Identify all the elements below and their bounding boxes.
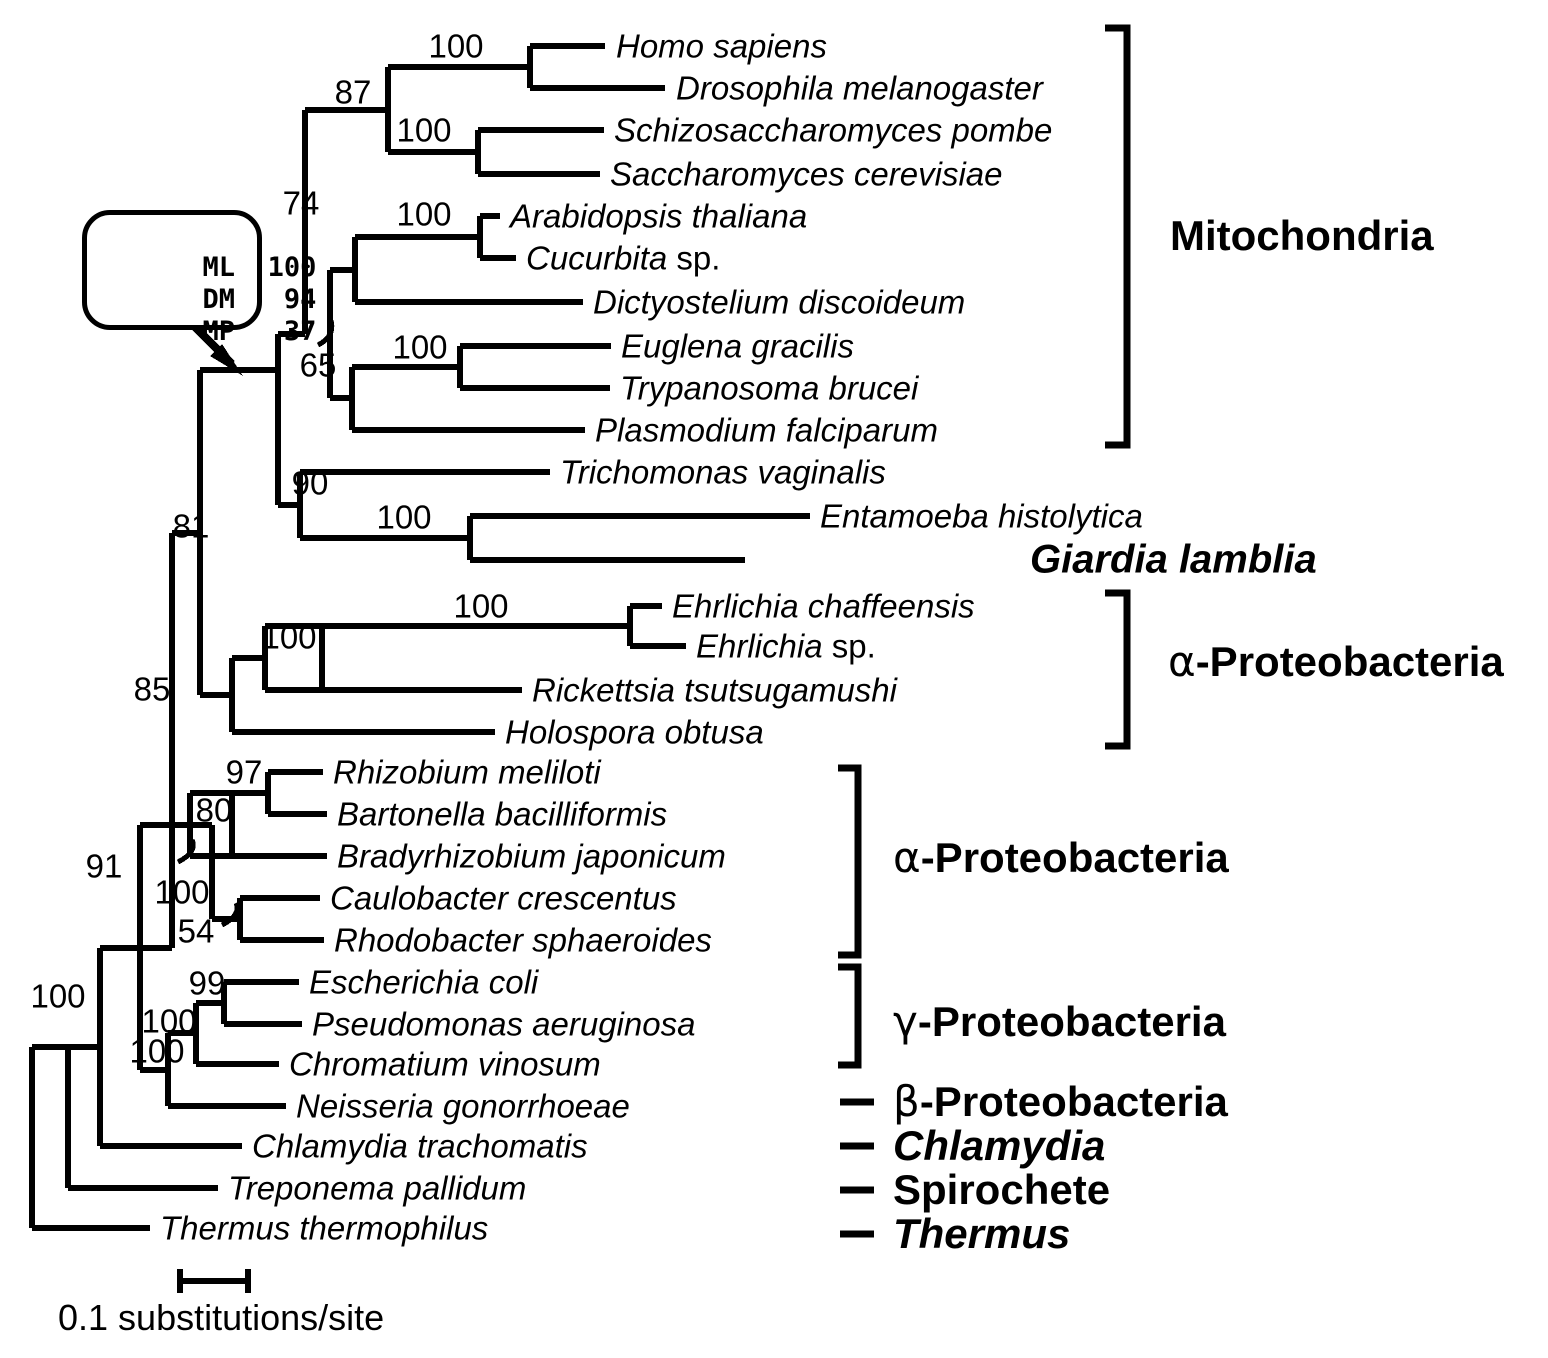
group-label-text: -Proteobacteria <box>920 1078 1228 1125</box>
taxon-name: Thermus thermophilus <box>160 1210 488 1247</box>
taxon-suffix: sp. <box>667 240 720 277</box>
group-label-mitochondria: Mitochondria <box>1170 215 1434 257</box>
legend-row-mp: MP 37 <box>105 291 316 372</box>
taxon-label-entamoeba: Entamoeba histolytica <box>820 500 1143 533</box>
taxon-label-bartonella: Bartonella bacilliformis <box>337 798 667 831</box>
taxon-name: Bradyrhizobium japonicum <box>337 838 726 875</box>
group-label-text: Mitochondria <box>1170 212 1434 259</box>
taxon-name: Treponema pallidum <box>228 1170 526 1207</box>
taxon-label-arabidopsis: Arabidopsis thaliana <box>510 200 807 233</box>
taxon-name: Euglena gracilis <box>621 328 854 365</box>
taxon-label-giardia: Giardia lamblia <box>1030 544 1317 577</box>
taxon-label-trypanosoma: Trypanosoma brucei <box>620 372 918 405</box>
taxon-label-holospora: Holospora obtusa <box>505 716 764 749</box>
taxon-name: Rhizobium meliloti <box>333 754 601 791</box>
group-label-beta-proteo: β-Proteobacteria <box>893 1081 1228 1123</box>
taxon-label-chlamydia: Chlamydia trachomatis <box>252 1130 588 1163</box>
bs-ecoli-pseudo: 99 <box>189 967 226 1000</box>
bs-entamoeba-giardia: 100 <box>376 501 431 534</box>
group-label-text: Thermus <box>893 1210 1070 1257</box>
taxon-label-rickettsia: Rickettsia tsutsugamushi <box>532 674 897 707</box>
bs-caulobacter-rhodo: 54 <box>178 915 215 948</box>
taxon-name: Escherichia coli <box>309 964 538 1001</box>
taxon-name: Plasmodium falciparum <box>595 412 938 449</box>
taxon-name: Pseudomonas aeruginosa <box>312 1006 695 1043</box>
group-label-chlamydia-group: Chlamydia <box>893 1125 1105 1167</box>
bs-alpha-mito: 85 <box>134 673 171 706</box>
support-legend-box: ML 100 DM 94 MP 37 <box>82 210 262 330</box>
taxon-name: Arabidopsis thaliana <box>510 198 807 235</box>
greek-letter-alpha-proteo-1: α <box>1168 637 1196 686</box>
group-label-alpha-proteo-1: α-Proteobacteria <box>1168 641 1504 683</box>
group-label-text: -Proteobacteria <box>918 998 1226 1045</box>
group-label-text: -Proteobacteria <box>1196 638 1504 685</box>
taxon-name: Dictyostelium discoideum <box>593 284 965 321</box>
phylogenetic-tree-figure: ML 100 DM 94 MP 37 Homo sapiensDrosophil… <box>0 0 1548 1358</box>
bs-eukaryotes: 81 <box>173 510 210 543</box>
taxon-label-trichomonas: Trichomonas vaginalis <box>560 456 886 489</box>
taxon-name: Trichomonas vaginalis <box>560 454 886 491</box>
taxon-label-dictyostelium: Dictyostelium discoideum <box>593 286 965 319</box>
bracket-mitochondria <box>1105 28 1127 445</box>
legend-value-mp: 37 <box>284 316 317 347</box>
bs-rhizobiales: 80 <box>196 794 233 827</box>
taxon-name: Entamoeba histolytica <box>820 498 1143 535</box>
bs-rickettsiales: 100 <box>261 621 316 654</box>
bs-plants: 100 <box>396 198 451 231</box>
bs-opisthokonts: 74 <box>283 187 320 220</box>
bs-bacteria: 91 <box>86 850 123 883</box>
bs-amitochondriates: 90 <box>292 467 329 500</box>
taxon-name: Caulobacter crescentus <box>330 880 677 917</box>
bracket-alpha-proteo-1 <box>1105 593 1127 746</box>
group-label-text: Spirochete <box>893 1166 1110 1213</box>
taxon-name: Giardia lamblia <box>1030 538 1317 582</box>
taxon-name: Rickettsia tsutsugamushi <box>532 672 897 709</box>
group-label-alpha-proteo-2: α-Proteobacteria <box>893 837 1229 879</box>
bs-mito-base: 65 <box>300 349 337 382</box>
bs-proteobacteria: 100 <box>129 1035 184 1068</box>
bs-ehrlichia: 100 <box>453 590 508 623</box>
taxon-name: Neisseria gonorrhoeae <box>296 1088 630 1125</box>
group-label-gamma-proteo: γ-Proteobacteria <box>893 1001 1226 1043</box>
taxon-name: Rhodobacter sphaeroides <box>334 922 712 959</box>
taxon-label-euglena: Euglena gracilis <box>621 330 854 363</box>
taxon-name: Bartonella bacilliformis <box>337 796 667 833</box>
taxon-label-homo: Homo sapiens <box>616 30 827 63</box>
group-label-thermus-group: Thermus <box>893 1213 1070 1255</box>
taxon-name: Chlamydia trachomatis <box>252 1128 588 1165</box>
group-dashes <box>840 1102 874 1234</box>
bracket-alpha-proteo-2 <box>838 768 858 955</box>
legend-method-mp: MP <box>203 316 236 347</box>
taxon-name: Homo sapiens <box>616 28 827 65</box>
taxon-label-rhodobacter: Rhodobacter sphaeroides <box>334 924 712 957</box>
taxon-label-chromatium: Chromatium vinosum <box>289 1048 601 1081</box>
bs-alphaproteo2: 100 <box>154 876 209 909</box>
taxon-label-escherichia: Escherichia coli <box>309 966 538 999</box>
taxon-label-ehrlichia_ch: Ehrlichia chaffeensis <box>672 590 975 623</box>
taxon-name: Chromatium vinosum <box>289 1046 601 1083</box>
taxon-label-drosophila: Drosophila melanogaster <box>676 72 1043 105</box>
taxon-label-bradyrhizobium: Bradyrhizobium japonicum <box>337 840 726 873</box>
taxon-name: Trypanosoma brucei <box>620 370 918 407</box>
taxon-name: Ehrlichia chaffeensis <box>672 588 975 625</box>
bs-euglenozoa: 100 <box>392 331 447 364</box>
taxon-name: Schizosaccharomyces pombe <box>614 112 1052 149</box>
bs-animals: 87 <box>335 76 372 109</box>
group-label-text: Chlamydia <box>893 1122 1105 1169</box>
taxon-name: Ehrlichia <box>696 628 823 665</box>
taxon-label-schizo: Schizosaccharomyces pombe <box>614 114 1052 147</box>
taxon-name: Holospora obtusa <box>505 714 764 751</box>
greek-letter-beta-proteo: β <box>893 1077 920 1126</box>
bs-rhizobium-bartonella: 97 <box>226 756 263 789</box>
greek-letter-gamma-proteo: γ <box>893 997 918 1046</box>
taxon-label-neisseria: Neisseria gonorrhoeae <box>296 1090 630 1123</box>
taxon-label-rhizobium: Rhizobium meliloti <box>333 756 601 789</box>
taxon-label-ehrlichia_sp: Ehrlichia sp. <box>696 630 876 663</box>
taxon-label-pseudomonas: Pseudomonas aeruginosa <box>312 1008 695 1041</box>
taxon-label-saccharomyces: Saccharomyces cerevisiae <box>610 158 1003 191</box>
taxon-label-caulobacter: Caulobacter crescentus <box>330 882 677 915</box>
taxon-name: Cucurbita <box>526 240 667 277</box>
bracket-gamma-proteo <box>838 967 858 1065</box>
group-label-text: -Proteobacteria <box>921 834 1229 881</box>
taxon-label-thermus: Thermus thermophilus <box>160 1212 488 1245</box>
scale-bar-label: 0.1 substitutions/site <box>58 1300 384 1336</box>
taxon-label-cucurbita: Cucurbita sp. <box>526 242 720 275</box>
bs-root: 100 <box>30 980 85 1013</box>
taxon-name: Saccharomyces cerevisiae <box>610 156 1003 193</box>
taxon-suffix: sp. <box>823 628 876 665</box>
bs-fungi: 100 <box>396 114 451 147</box>
greek-letter-alpha-proteo-2: α <box>893 833 921 882</box>
bs-homo-droso: 100 <box>428 30 483 63</box>
taxon-name: Drosophila melanogaster <box>676 70 1043 107</box>
taxon-label-plasmodium: Plasmodium falciparum <box>595 414 938 447</box>
group-label-spirochete-group: Spirochete <box>893 1169 1110 1211</box>
taxon-label-treponema: Treponema pallidum <box>228 1172 526 1205</box>
